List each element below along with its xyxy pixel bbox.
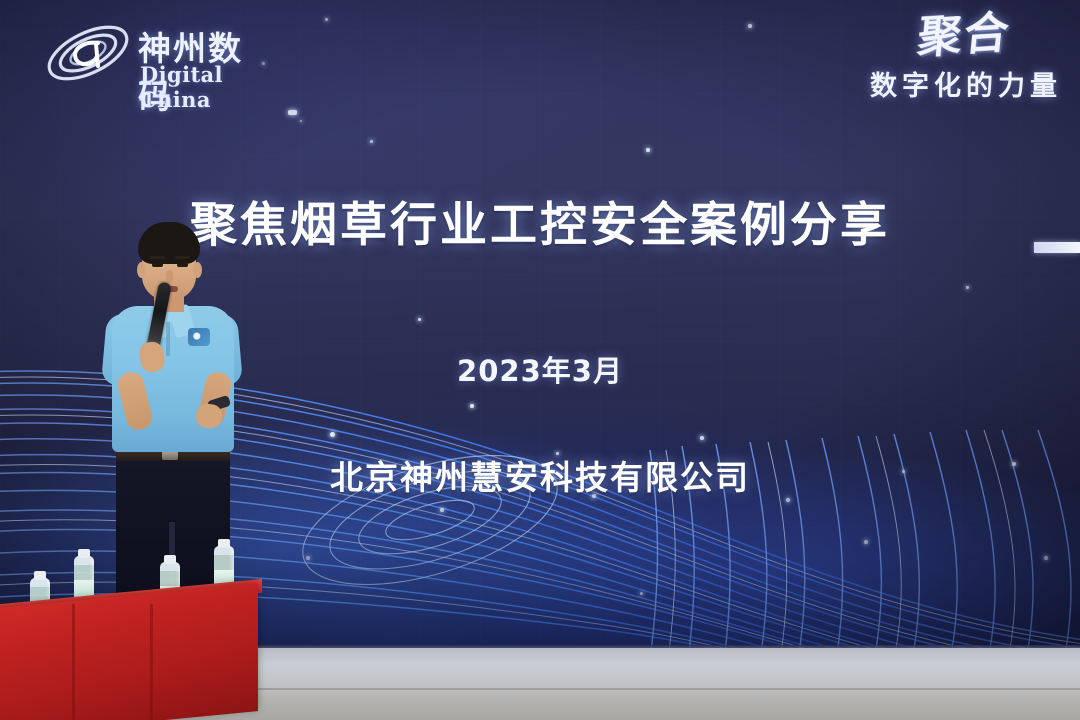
particle-dot xyxy=(748,24,752,28)
juhe-tagline: 数字化的力量 xyxy=(792,64,1062,103)
particle-dot xyxy=(1044,556,1048,560)
speaker-ear-right xyxy=(193,262,202,278)
particle-dot xyxy=(440,508,444,512)
particle-dot xyxy=(288,110,297,115)
spiral-galaxy-icon xyxy=(42,20,134,86)
bottle-cap xyxy=(218,539,230,548)
particle-dot xyxy=(330,432,335,437)
speaker-eye-right xyxy=(177,263,188,267)
speaker-hair xyxy=(138,222,200,264)
digital-china-logo: 神州数码 Digital China xyxy=(42,16,272,90)
polo-placket xyxy=(166,322,170,356)
particle-dot xyxy=(864,540,868,544)
screen-edge-highlight xyxy=(1034,242,1080,253)
red-table-cloth xyxy=(0,583,258,720)
particle-dot xyxy=(306,556,310,560)
speaker-nose xyxy=(166,270,173,282)
logo-name-en: Digital China xyxy=(140,62,272,112)
particle-dot xyxy=(646,148,650,152)
bottle-cap xyxy=(164,555,176,564)
particle-dot xyxy=(470,404,474,408)
speaker-eyebrow-left xyxy=(150,256,165,259)
particle-dot xyxy=(325,18,328,21)
particle-dot xyxy=(966,286,969,289)
particle-dot xyxy=(640,592,643,595)
particle-dot xyxy=(700,436,704,440)
speaker-eyebrow-right xyxy=(175,256,190,259)
bottle-cap xyxy=(78,549,90,558)
table-cloth-fold xyxy=(150,604,153,720)
speaker-ear-left xyxy=(137,262,146,278)
particle-dot xyxy=(370,140,373,143)
particle-dot xyxy=(418,318,421,321)
speaker-eye-left xyxy=(152,263,163,267)
particle-dot xyxy=(300,120,302,122)
bottle-cap xyxy=(34,571,46,580)
juhe-calligraphy: 聚合 xyxy=(916,11,1013,61)
stage-photo: 神州数码 Digital China 聚合 数字化的力量 聚焦烟草行业工控安全案… xyxy=(0,0,1080,720)
table-cloth-fold xyxy=(72,604,75,720)
chest-logo-badge xyxy=(188,328,210,346)
juhe-brand-lockup: 聚合 数字化的力量 xyxy=(792,14,1062,114)
